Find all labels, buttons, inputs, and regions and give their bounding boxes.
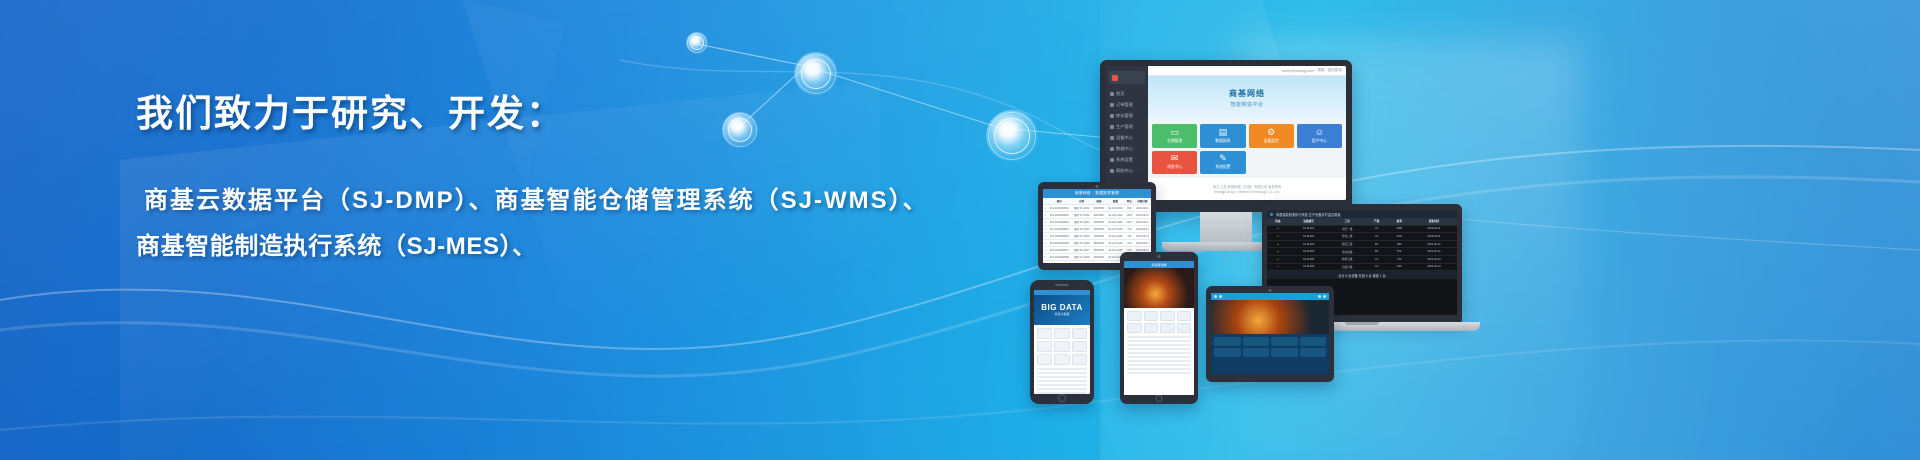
cell-code: 201-0104090808 — [1047, 254, 1071, 261]
cell-station: 检测五线 — [1329, 255, 1366, 263]
tile-messages[interactable]: ✉ 消息中心 — [1152, 151, 1197, 175]
imac-screen: 首页 订单管理 库存管理 生产管理 — [1106, 66, 1346, 200]
cell-station: 喷涂四线 — [1329, 248, 1366, 256]
cell-station: 装配三线 — [1329, 240, 1366, 248]
product-line-2: 商基智能制造执行系统（SJ-MES）、 — [136, 224, 956, 270]
list-item[interactable] — [1037, 380, 1087, 382]
cell-updated: 2019-09-13 — [1411, 255, 1457, 263]
phone-hero: BIG DATA 商基大数据 — [1034, 295, 1090, 325]
dashboard-sidebar: 首页 订单管理 库存管理 生产管理 — [1106, 66, 1148, 200]
list-item[interactable] — [1037, 372, 1087, 374]
cell-date: 2019-09-11 — [1134, 219, 1151, 226]
list-item[interactable] — [1127, 372, 1191, 374]
pencil-icon: ✎ — [1219, 154, 1227, 163]
table-row[interactable]: □201-0104090806钢材 SY-A006800X580SJ-121-0… — [1043, 240, 1151, 247]
camera-icon — [1158, 255, 1161, 258]
status-badge: ● — [1267, 255, 1289, 263]
home-icon — [1110, 92, 1114, 96]
order-icon — [1110, 103, 1114, 107]
sidebar-item-label: 库存管理 — [1116, 113, 1133, 119]
sidebar-item-label: 数据中心 — [1116, 146, 1133, 152]
cell-device: SJ-M-005 — [1289, 255, 1329, 263]
sidebar-item-settings[interactable]: 系统设置 — [1106, 154, 1148, 165]
app-tile[interactable] — [1072, 341, 1087, 352]
app-tile[interactable] — [1054, 328, 1069, 339]
grid-icon[interactable] — [1219, 295, 1222, 298]
dashboard-topbar: admin@shangji.com 搜索 退出登录 — [1148, 66, 1346, 76]
cell-spec: 800X580 — [1092, 233, 1106, 240]
cell-device: SJ-M-002 — [1289, 233, 1329, 241]
app-tile[interactable] — [1144, 323, 1159, 333]
account-label: admin@shangji.com — [1282, 69, 1315, 73]
cell-spec: 800X580 — [1092, 212, 1106, 219]
sidebar-item-label: 设备中心 — [1116, 135, 1133, 141]
tablet-right-screen — [1211, 293, 1329, 375]
cell-spec: 800X580 — [1092, 254, 1106, 261]
cell-date: 2019-09-11 — [1134, 212, 1151, 219]
tablet-app-grid — [1124, 308, 1194, 336]
cell-qty: 120 — [1125, 240, 1134, 247]
banner-copy: 我们致力于研究、开发： 商基云数据平台（SJ-DMP）、商基智能仓储管理系统（S… — [136, 92, 956, 270]
sidebar-item-devices[interactable]: 设备中心 — [1106, 132, 1148, 143]
app-tile[interactable] — [1300, 337, 1327, 346]
cell-device: SJ-M-003 — [1289, 240, 1329, 248]
device-icon — [1110, 136, 1114, 140]
cell-model: SJ-120-0400 — [1106, 219, 1125, 226]
list-item[interactable] — [1037, 388, 1087, 390]
speaker-icon — [1055, 284, 1069, 286]
gear-icon — [1110, 158, 1114, 162]
dashboard-tiles: ▭ 仓储管理 ▤ 数据报表 ⚙ 设备监控 — [1148, 120, 1346, 178]
status-badge: ● — [1267, 248, 1289, 256]
page-title: 我们致力于研究、开发： — [136, 92, 956, 136]
status-badge: ● — [1267, 263, 1289, 271]
sidebar-item-production[interactable]: 生产管理 — [1106, 121, 1148, 132]
list-item[interactable] — [1127, 356, 1191, 358]
tablet-titlebar: 商基网络 · 数据报表管理 — [1043, 189, 1151, 198]
device-monitor-body: ●SJ-M-001冲压一线A112802019-09-11 ●SJ-M-002焊… — [1267, 225, 1457, 271]
battery-icon — [1323, 295, 1326, 298]
cell-name: 钢材 SY-A007 — [1071, 247, 1091, 254]
table-row[interactable]: □201-0104090802钢材 SY-A002800X580SJ-120-0… — [1043, 212, 1151, 219]
status-badge: ● — [1267, 233, 1289, 241]
list-item[interactable] — [1127, 368, 1191, 370]
phone-app-grid — [1034, 325, 1090, 368]
cell-name: 钢材 SY-A003 — [1071, 219, 1091, 226]
col-device: 设备编号 — [1289, 218, 1329, 225]
hero-banner: 我们致力于研究、开发： 商基云数据平台（SJ-DMP）、商基智能仓储管理系统（S… — [0, 0, 1920, 460]
chart-icon: ▤ — [1219, 128, 1228, 137]
app-tile[interactable] — [1177, 311, 1192, 321]
cell-spec: 800X580 — [1092, 240, 1106, 247]
phone-mockup: BIG DATA 商基大数据 — [1030, 280, 1094, 404]
app-tile[interactable] — [1300, 348, 1327, 357]
cell-output: 1104 — [1387, 233, 1410, 241]
cell-code: 201-0104090807 — [1047, 247, 1071, 254]
sidebar-item-data[interactable]: 数据中心 — [1106, 143, 1148, 154]
cell-updated: 2019-09-12 — [1411, 240, 1457, 248]
device-monitor-table: 状态 设备编号 工位 产能 效率 更新时间 ●SJ-M-001冲压一线A1128… — [1267, 218, 1457, 271]
col-status: 状态 — [1267, 218, 1289, 225]
app-tile[interactable] — [1177, 323, 1192, 333]
col-updated: 更新时间 — [1411, 218, 1457, 225]
app-tile[interactable] — [1127, 311, 1142, 321]
sidebar-item-label: 系统设置 — [1116, 157, 1133, 163]
cell-code: 201-0104090804 — [1047, 226, 1071, 233]
cell-qty: 830 — [1125, 205, 1134, 212]
cell-line: A1 — [1366, 225, 1388, 233]
cell-name: 钢材 SY-A005 — [1071, 233, 1091, 240]
cell-name: 钢材 SY-A004 — [1071, 226, 1091, 233]
sidebar-item-home[interactable]: 首页 — [1106, 88, 1148, 99]
app-tile[interactable] — [1054, 341, 1069, 352]
wifi-icon — [1318, 295, 1321, 298]
col-station: 工位 — [1329, 218, 1366, 225]
phone-list — [1034, 368, 1090, 394]
cell-updated: 2019-09-12 — [1411, 248, 1457, 256]
user-icon: ☺ — [1315, 128, 1324, 137]
sidebar-item-orders[interactable]: 订单管理 — [1106, 99, 1148, 110]
tablet-right-titlebar — [1211, 293, 1329, 300]
menu-icon[interactable] — [1214, 295, 1217, 298]
app-tile[interactable] — [1054, 354, 1069, 365]
hero-subtitle: 智能制造平台 — [1230, 101, 1263, 108]
stock-icon — [1110, 114, 1114, 118]
app-tile[interactable] — [1214, 348, 1241, 357]
cell-output: 760 — [1387, 255, 1410, 263]
cell-date: 2019-09-12 — [1134, 226, 1151, 233]
phone-hero-title: BIG DATA — [1041, 304, 1082, 312]
tile-label: 设备监控 — [1264, 139, 1279, 144]
col-efficiency: 效率 — [1387, 218, 1410, 225]
app-tile[interactable] — [1072, 328, 1087, 339]
cell-name: 钢材 SY-A006 — [1071, 240, 1091, 247]
tile-system-config[interactable]: ✎ 系统配置 — [1200, 151, 1245, 175]
app-tile[interactable] — [1144, 311, 1159, 321]
app-tile[interactable] — [1127, 323, 1142, 333]
search-icon[interactable]: 搜索 — [1317, 68, 1324, 73]
cell-qty: 1478 — [1125, 212, 1134, 219]
tablet-portrait-mockup: 商基移动端 — [1120, 252, 1198, 404]
table-row[interactable]: ●SJ-M-004喷涂四线B28722019-09-12 — [1267, 248, 1457, 256]
tile-device-monitor[interactable]: ⚙ 设备监控 — [1249, 124, 1294, 148]
footer-line-1: 浙江 江苏 商基网络（中国）有限公司 版权所有 — [1213, 184, 1282, 189]
app-tile[interactable] — [1037, 354, 1052, 365]
home-button[interactable] — [1058, 394, 1066, 402]
tile-label: 系统配置 — [1215, 165, 1230, 170]
list-item[interactable] — [1127, 344, 1191, 346]
cell-updated: 2019-09-13 — [1411, 263, 1457, 271]
device-mockup-cluster: 首页 订单管理 库存管理 生产管理 — [1010, 36, 1910, 460]
cell-line: C2 — [1366, 263, 1388, 271]
tile-reports[interactable]: ▤ 数据报表 — [1200, 124, 1245, 148]
cell-output: 1280 — [1387, 225, 1410, 233]
tile-warehouse[interactable]: ▭ 仓储管理 — [1152, 124, 1197, 148]
status-badge: ● — [1267, 225, 1289, 233]
table-row[interactable]: □201-0104090801钢材 SY-A001800X580SJ-120-0… — [1043, 205, 1151, 212]
cell-spec: 800X580 — [1092, 205, 1106, 212]
app-tile[interactable] — [1160, 323, 1175, 333]
laptop-status-text: 合计 6 台设备 在线 5 台 离线 1 台 — [1338, 273, 1385, 278]
app-tile[interactable] — [1037, 341, 1052, 352]
dashboard-main: admin@shangji.com 搜索 退出登录 商基网络 智能制造平台 ▭ … — [1148, 66, 1346, 200]
cell-model: SJ-120-0400 — [1106, 212, 1125, 219]
cell-station: 焊接二线 — [1329, 233, 1366, 241]
tablet-right-mockup — [1206, 286, 1334, 382]
cell-code: 201-0104090801 — [1047, 205, 1071, 212]
tile-label: 仓储管理 — [1167, 139, 1182, 144]
cell-qty: 726 — [1125, 233, 1134, 240]
tablet-portrait-screen: 商基移动端 — [1124, 261, 1194, 395]
cell-device: SJ-M-004 — [1289, 248, 1329, 256]
cell-code: 201-0104090806 — [1047, 240, 1071, 247]
tablet-right-grid — [1211, 334, 1329, 360]
list-item[interactable] — [1037, 368, 1087, 370]
table-row[interactable]: ●SJ-M-006包装六线C26402019-09-13 — [1267, 263, 1457, 271]
cell-station: 包装六线 — [1329, 263, 1366, 271]
product-list: 商基云数据平台（SJ-DMP）、商基智能仓储管理系统（SJ-WMS）、 商基智能… — [136, 178, 956, 270]
tablet-list — [1124, 336, 1194, 374]
app-tile[interactable] — [1160, 311, 1175, 321]
dashboard-brand — [1109, 71, 1145, 84]
col-output: 产能 — [1366, 218, 1388, 225]
hero-title: 商基网络 — [1229, 88, 1265, 99]
hero-image — [1211, 300, 1329, 334]
hero-image — [1124, 268, 1194, 308]
phone-screen: BIG DATA 商基大数据 — [1034, 290, 1090, 394]
sidebar-item-label: 帮助中心 — [1116, 168, 1133, 174]
cell-station: 冲压一线 — [1329, 225, 1366, 233]
list-item[interactable] — [1127, 348, 1191, 350]
cell-output: 980 — [1387, 240, 1410, 248]
cell-model: SJ-121-0140 — [1106, 226, 1125, 233]
list-item[interactable] — [1127, 340, 1191, 342]
sidebar-item-help[interactable]: 帮助中心 — [1106, 165, 1148, 176]
cell-name: 钢材 SY-A008 — [1071, 254, 1091, 261]
phone-hero-subtitle: 商基大数据 — [1054, 312, 1069, 316]
logout-button[interactable]: 退出登录 — [1328, 68, 1342, 73]
cell-name: 钢材 SY-A001 — [1071, 205, 1091, 212]
cell-date: 2019-09-12 — [1134, 240, 1151, 247]
cell-name: 钢材 SY-A002 — [1071, 212, 1091, 219]
sidebar-item-stock[interactable]: 库存管理 — [1106, 110, 1148, 121]
list-item[interactable] — [1127, 352, 1191, 354]
cell-qty: 1470 — [1125, 219, 1134, 226]
tile-label: 消息中心 — [1167, 165, 1182, 170]
cell-qty: 720 — [1125, 226, 1134, 233]
list-item[interactable] — [1127, 360, 1191, 362]
laptop-title-text: 商基智能制造执行系统 生产设备实时监控看板 — [1276, 212, 1341, 217]
cell-model: SJ-121-0140 — [1106, 233, 1125, 240]
tile-user-center[interactable]: ☺ 用户中心 — [1297, 124, 1342, 148]
cell-line: C1 — [1366, 255, 1388, 263]
tile-label: 用户中心 — [1312, 139, 1327, 144]
table-row[interactable]: □201-0104090803钢材 SY-A003800X580SJ-120-0… — [1043, 219, 1151, 226]
cell-spec: 800X580 — [1092, 247, 1106, 254]
cell-output: 872 — [1387, 248, 1410, 256]
table-row[interactable]: ●SJ-M-003装配三线B19802019-09-12 — [1267, 240, 1457, 248]
cell-output: 640 — [1387, 263, 1410, 271]
imac-neck — [1200, 212, 1252, 242]
cell-device: SJ-M-006 — [1289, 263, 1329, 271]
cell-code: 201-0104090805 — [1047, 233, 1071, 240]
cell-updated: 2019-09-11 — [1411, 233, 1457, 241]
footer-line-2: Shangji Group | Internet Technology Co.,… — [1214, 190, 1280, 194]
monitor-icon: ▭ — [1170, 128, 1179, 137]
table-row[interactable]: ●SJ-M-005检测五线C17602019-09-13 — [1267, 255, 1457, 263]
app-tile[interactable] — [1243, 337, 1270, 346]
app-tile[interactable] — [1271, 348, 1298, 357]
camera-icon — [1096, 185, 1099, 188]
gear-icon: ⚙ — [1267, 128, 1275, 137]
cell-date: 2019-09-11 — [1134, 205, 1151, 212]
cell-model: SJ-121-0140 — [1106, 240, 1125, 247]
node-1 — [686, 32, 708, 54]
laptop-titlebar: 商基智能制造执行系统 生产设备实时监控看板 — [1267, 210, 1457, 218]
status-dot-icon — [1270, 213, 1273, 216]
dashboard-footer: 浙江 江苏 商基网络（中国）有限公司 版权所有 Shangji Group | … — [1148, 178, 1346, 200]
table-row[interactable]: ●SJ-M-002焊接二线A211042019-09-11 — [1267, 233, 1457, 241]
cell-line: B1 — [1366, 240, 1388, 248]
app-tile[interactable] — [1072, 354, 1087, 365]
list-item[interactable] — [1037, 376, 1087, 378]
cell-date: 2019-09-12 — [1134, 233, 1151, 240]
tablet-portrait-titlebar: 商基移动端 — [1124, 261, 1194, 268]
chart-icon — [1110, 147, 1114, 151]
cell-line: B2 — [1366, 248, 1388, 256]
product-line-1: 商基云数据平台（SJ-DMP）、商基智能仓储管理系统（SJ-WMS）、 — [136, 178, 956, 224]
cell-line: A2 — [1366, 233, 1388, 241]
sidebar-item-label: 生产管理 — [1116, 124, 1133, 130]
table-row[interactable]: □201-0104090804钢材 SY-A004800X580SJ-121-0… — [1043, 226, 1151, 233]
cell-code: 201-0104090803 — [1047, 219, 1071, 226]
tile-label: 数据报表 — [1215, 139, 1230, 144]
factory-icon — [1110, 125, 1114, 129]
app-tile[interactable] — [1214, 337, 1241, 346]
app-tile[interactable] — [1243, 348, 1270, 357]
help-icon — [1110, 169, 1114, 173]
cell-spec: 800X580 — [1092, 226, 1106, 233]
mail-icon: ✉ — [1171, 154, 1179, 163]
list-item[interactable] — [1127, 364, 1191, 366]
list-item[interactable] — [1127, 336, 1191, 338]
list-item[interactable] — [1037, 384, 1087, 386]
home-button[interactable] — [1156, 395, 1163, 402]
table-row[interactable]: □201-0104090805钢材 SY-A005800X580SJ-121-0… — [1043, 233, 1151, 240]
cell-updated: 2019-09-11 — [1411, 225, 1457, 233]
node-2 — [794, 52, 838, 96]
cell-model: SJ-120-0400 — [1106, 205, 1125, 212]
laptop-statusbar: 合计 6 台设备 在线 5 台 离线 1 台 — [1267, 271, 1457, 279]
cell-code: 201-0104090802 — [1047, 212, 1071, 219]
laptop-notch — [1345, 322, 1379, 325]
brand-mark-icon — [1112, 75, 1118, 81]
cell-device: SJ-M-001 — [1289, 225, 1329, 233]
dashboard-hero: 商基网络 智能制造平台 — [1148, 76, 1346, 120]
sidebar-item-label: 首页 — [1116, 91, 1124, 97]
table-row[interactable]: ●SJ-M-001冲压一线A112802019-09-11 — [1267, 225, 1457, 233]
table-header-row: 状态 设备编号 工位 产能 效率 更新时间 — [1267, 218, 1457, 225]
app-tile[interactable] — [1037, 328, 1052, 339]
app-tile[interactable] — [1271, 337, 1298, 346]
sidebar-item-label: 订单管理 — [1116, 102, 1133, 108]
camera-icon — [1269, 289, 1272, 292]
status-badge: ● — [1267, 240, 1289, 248]
cell-spec: 800X580 — [1092, 219, 1106, 226]
